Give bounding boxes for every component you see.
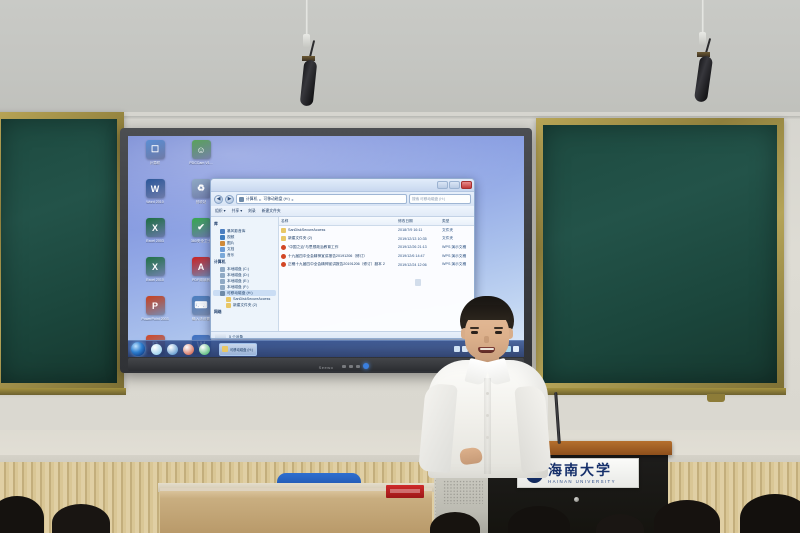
computer-icon xyxy=(239,197,244,202)
taskbar-task-explorer[interactable]: 可移动磁盘 (H:) xyxy=(219,343,257,356)
right-chalkboard-bracket xyxy=(707,394,725,402)
lecture-hall-scene: ☐计算机☺PDCCam V1...WWord 2010♻回收站XExcel 20… xyxy=(0,0,800,533)
desktop-icon-glyph: X xyxy=(146,257,165,276)
file-date: 2019/12/6 14:47 xyxy=(398,254,442,258)
forward-icon[interactable]: ▶ xyxy=(225,195,234,204)
sidebar-item-icon xyxy=(220,291,225,296)
desktop-icon-glyph: ☺ xyxy=(192,140,211,159)
desktop-icon-glyph: P xyxy=(146,296,165,315)
desktop-icon-label: Excel 2010 xyxy=(146,278,164,282)
toolbar-button-3[interactable]: 新建文件夹 xyxy=(262,209,281,214)
desktop-icon-glyph: W xyxy=(146,179,165,198)
document-icon xyxy=(281,254,286,259)
left-chalkboard-ledge xyxy=(0,388,126,395)
sidebar-item-label: 可移动磁盘 (H:) xyxy=(227,291,253,296)
file-row[interactable]: 十九届四中全会精神宣讲报告20191206（修订）2019/12/6 14:47… xyxy=(279,252,474,261)
desktop-icon-label: PDCCam V1... xyxy=(189,161,213,165)
file-name[interactable]: “中国之治”与思想政治教育工作 xyxy=(288,245,398,250)
browser-icon[interactable] xyxy=(199,344,210,355)
desktop-icon[interactable]: PPowerPoint 2003 xyxy=(133,296,177,333)
disk-icon xyxy=(215,334,226,340)
mouth xyxy=(478,347,495,353)
file-row[interactable]: “中国之治”与思想政治教育工作2019/12/26 21:13WPS 演示文稿 xyxy=(279,243,474,252)
folder-icon xyxy=(281,228,286,233)
column-date[interactable]: 修改日期 xyxy=(398,219,442,224)
podium-sign-english: HAINAN UNIVERSITY xyxy=(548,479,616,484)
desktop-icon-glyph: ✔ xyxy=(192,218,211,237)
right-eye xyxy=(495,331,502,334)
desktop-icon-glyph: ⌨ xyxy=(192,296,211,315)
sidebar-item-icon xyxy=(220,235,225,240)
shirt-button xyxy=(486,414,489,417)
smartboard-button-source[interactable] xyxy=(356,365,360,368)
sidebar-item-icon xyxy=(220,247,225,252)
explorer-sidebar[interactable]: 库暴风影音库视频图片文档音乐计算机本地磁盘 (C:)本地磁盘 (D:)本地磁盘 … xyxy=(211,217,279,331)
breadcrumb-separator-end: ▸ xyxy=(292,197,294,202)
sidebar-item[interactable]: 音乐 xyxy=(213,252,276,258)
taskbar-task-label: 可移动磁盘 (H:) xyxy=(230,347,253,352)
internet-explorer-icon[interactable] xyxy=(167,344,178,355)
shirt-button xyxy=(486,392,489,395)
folder-icon xyxy=(281,236,286,241)
file-name[interactable]: 新建文件夹 (2) xyxy=(288,236,398,241)
sidebar-item-icon xyxy=(220,279,225,284)
sidebar-item-icon xyxy=(220,253,225,258)
sidebar-item-label: 本地磁盘 (E:) xyxy=(227,279,249,284)
file-date: 2019/12/26 21:13 xyxy=(398,245,442,249)
column-type[interactable]: 类型 xyxy=(442,219,474,224)
desktop-icon-label: 计算机 xyxy=(150,161,161,165)
media-player-icon[interactable] xyxy=(183,344,194,355)
left-chalkboard-surface xyxy=(1,119,117,383)
desktop-icon[interactable]: ☐计算机 xyxy=(133,140,177,177)
sidebar-item-label: 音乐 xyxy=(227,253,234,258)
sidebar-item-icon xyxy=(220,241,225,246)
toolbar-button-0[interactable]: 组织 ▾ xyxy=(215,208,226,214)
sidebar-item-icon xyxy=(220,267,225,272)
file-name[interactable]: 正稿十九届四中全会精神宣讲报告20191206（修订）副本 2 xyxy=(288,262,398,267)
sidebar-item-icon xyxy=(220,273,225,278)
status-text: 5 个对象 xyxy=(229,335,243,340)
sidebar-item-icon xyxy=(220,229,225,234)
sidebar-item-label: 暴风影音库 xyxy=(227,229,245,234)
file-rows: SanDiskSecureAccess2018/7/9 16:11文件夹新建文件… xyxy=(279,226,474,269)
start-button[interactable] xyxy=(131,342,145,356)
folder-icon xyxy=(222,346,228,352)
speaker-person xyxy=(420,296,550,476)
sidebar-item-icon xyxy=(220,285,225,290)
column-headers[interactable]: 名称 修改日期 类型 xyxy=(279,217,474,226)
smartboard-brand: Seewo xyxy=(319,365,334,370)
close-button[interactable] xyxy=(461,181,472,189)
podium-sign-chinese: 海南大学 xyxy=(548,463,616,477)
right-chalkboard xyxy=(536,118,784,390)
sidebar-item-label: SanDiskSecureAccess xyxy=(233,297,270,301)
sidebar-item-icon xyxy=(226,297,231,302)
desktop-icon[interactable]: XExcel 2003 xyxy=(133,218,177,255)
left-eye xyxy=(471,331,478,334)
shirt-button xyxy=(486,436,489,439)
file-type: WPS 演示文稿 xyxy=(442,254,474,259)
sidebar-group-1[interactable]: 计算机 xyxy=(214,260,276,265)
hair-bangs xyxy=(463,305,511,320)
speaker-grill xyxy=(443,480,483,504)
desktop-icon[interactable]: XExcel 2010 xyxy=(133,257,177,294)
desktop-icon-label: 360安全卫士 xyxy=(191,239,211,243)
desktop-icon-label: 回收站 xyxy=(196,200,207,204)
smartboard-button-menu[interactable] xyxy=(349,365,353,368)
sidebar-item-icon xyxy=(226,303,231,308)
minimize-button[interactable] xyxy=(437,181,448,189)
file-name[interactable]: 十九届四中全会精神宣讲报告20191206（修订） xyxy=(288,254,398,259)
file-type: 文件夹 xyxy=(442,228,474,233)
file-type: WPS 演示文稿 xyxy=(442,262,474,267)
file-type: WPS 演示文稿 xyxy=(442,245,474,250)
desktop-icon-label: PowerPoint 2003 xyxy=(141,317,168,321)
quick-launch-bar[interactable] xyxy=(151,344,210,355)
right-eyebrow xyxy=(494,327,503,329)
smartboard-buttons[interactable] xyxy=(342,363,369,369)
toolbar-button-2[interactable]: 刻录 xyxy=(248,209,256,214)
desktop-icon[interactable]: WWord 2010 xyxy=(133,179,177,216)
desktop-icon-glyph: ☐ xyxy=(146,140,165,159)
sidebar-item-label: 视频 xyxy=(227,235,234,240)
desktop-icon-label: Excel 2003 xyxy=(146,239,164,243)
show-desktop-icon[interactable] xyxy=(151,344,162,355)
column-name[interactable]: 名称 xyxy=(281,219,398,224)
explorer-titlebar[interactable] xyxy=(211,179,474,192)
sidebar-item-label: 本地磁盘 (D:) xyxy=(227,273,249,278)
desktop-icon-label: Word 2010 xyxy=(146,200,164,204)
window-controls[interactable] xyxy=(437,181,472,189)
file-row[interactable]: 新建文件夹 (2)2019/12/13 10:35文件夹 xyxy=(279,235,474,244)
nose xyxy=(484,336,489,343)
smartboard-power-led[interactable] xyxy=(363,363,369,369)
sidebar-item[interactable]: 新建文件夹 (2) xyxy=(213,302,276,308)
desktop-icon-glyph: ♻ xyxy=(192,179,211,198)
desktop-icon-glyph: X xyxy=(146,218,165,237)
sidebar-item-label: 本地磁盘 (C:) xyxy=(227,267,249,272)
sidebar-item-label: 新建文件夹 (2) xyxy=(233,303,257,308)
file-date: 2019/12/24 12:06 xyxy=(398,263,442,267)
left-eyebrow xyxy=(470,327,479,329)
breadcrumb-computer[interactable]: 计算机 xyxy=(246,197,257,202)
smartboard-button-power[interactable] xyxy=(342,365,346,368)
podium-knob xyxy=(574,497,579,502)
search-input[interactable]: 搜索 可移动磁盘 (H:) xyxy=(409,194,471,204)
toolbar-button-1[interactable]: 共享 ▾ xyxy=(232,208,243,214)
file-type: 文件夹 xyxy=(442,236,474,241)
address-bar[interactable]: 计算机 ▸ 可移动磁盘 (H:) ▸ xyxy=(236,194,407,204)
file-row[interactable]: 正稿十九届四中全会精神宣讲报告20191206（修订）副本 22019/12/2… xyxy=(279,260,474,269)
left-chalkboard xyxy=(0,112,124,390)
sidebar-item-label: 文档 xyxy=(227,247,234,252)
desktop-icon-glyph: A xyxy=(192,257,211,276)
breadcrumb-separator: ▸ xyxy=(259,197,261,202)
document-icon xyxy=(281,245,286,250)
sidebar-group-2[interactable]: 网络 xyxy=(214,310,276,315)
right-chalkboard-surface xyxy=(543,125,777,383)
back-icon[interactable]: ◀ xyxy=(214,195,223,204)
file-name[interactable]: SanDiskSecureAccess xyxy=(288,228,398,232)
file-date: 2018/7/9 16:11 xyxy=(398,228,442,232)
red-box xyxy=(386,485,424,498)
right-chalkboard-ledge xyxy=(536,388,786,395)
upper-wall xyxy=(0,0,800,120)
document-icon xyxy=(281,262,286,267)
explorer-navbar: ◀ ▶ 计算机 ▸ 可移动磁盘 (H:) ▸ 搜索 可移动磁盘 (H:) xyxy=(211,192,474,206)
maximize-button[interactable] xyxy=(449,181,460,189)
sidebar-item-label: 本地磁盘 (F:) xyxy=(227,285,249,290)
desktop-icon[interactable]: ☺PDCCam V1... xyxy=(179,140,223,177)
breadcrumb-removable-disk[interactable]: 可移动磁盘 (H:) xyxy=(263,197,289,202)
desktop-icon-label: 输入法设置 xyxy=(192,317,210,321)
mouse-cursor xyxy=(415,279,421,286)
explorer-toolbar: 组织 ▾共享 ▾刻录新建文件夹 xyxy=(211,206,474,217)
file-date: 2019/12/13 10:35 xyxy=(398,237,442,241)
sidebar-group-0[interactable]: 库 xyxy=(214,222,276,227)
sidebar-item-label: 图片 xyxy=(227,241,234,246)
file-row[interactable]: SanDiskSecureAccess2018/7/9 16:11文件夹 xyxy=(279,226,474,235)
desktop-icon-label: PDF阅读器 xyxy=(192,278,210,282)
